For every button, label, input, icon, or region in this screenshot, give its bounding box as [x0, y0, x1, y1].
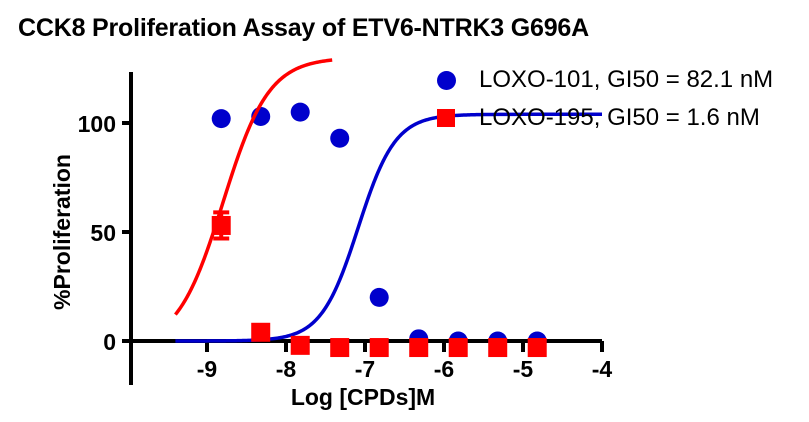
data-point-square: [488, 338, 507, 357]
chart-page: CCK8 Proliferation Assay of ETV6-NTRK3 G…: [0, 0, 809, 422]
data-point-square: [330, 338, 349, 357]
data-point-circle: [212, 109, 231, 128]
circle-marker-icon: [437, 71, 456, 90]
plot-area: 100 50 0 -9 -8 -7 -6 -5 -4 Log [CPDs]M %…: [0, 0, 809, 422]
x-tick-label-minus9: -9: [197, 356, 217, 382]
data-point-square: [449, 338, 468, 357]
legend-label: LOXO-101, GI50 = 82.1 nM: [479, 66, 773, 94]
data-point-square: [291, 336, 310, 355]
legend-label: LOXO-195, GI50 = 1.6 nM: [479, 104, 760, 132]
data-point-circle: [291, 103, 310, 122]
x-tick-label-minus6: -6: [434, 356, 454, 382]
data-point-square: [251, 323, 270, 342]
data-point-circle: [370, 288, 389, 307]
data-point-square: [370, 338, 389, 357]
x-tick-label-minus4: -4: [592, 356, 613, 382]
x-axis-title: Log [CPDs]M: [291, 384, 435, 410]
x-tick-label-minus5: -5: [513, 356, 534, 382]
y-axis-title: %Proliferation: [49, 154, 75, 310]
data-point-square: [528, 338, 547, 357]
data-point-circle: [330, 129, 349, 148]
fit-curve: [175, 60, 332, 315]
data-point-square: [409, 338, 428, 357]
series-loxo-101: [175, 103, 602, 351]
y-tick-label-50: 50: [90, 220, 116, 246]
y-tick-label-0: 0: [103, 329, 116, 355]
square-marker-icon: [437, 109, 455, 127]
x-tick-label-minus7: -7: [355, 356, 375, 382]
y-tick-label-100: 100: [78, 111, 116, 137]
x-tick-label-minus8: -8: [276, 356, 297, 382]
data-point-square: [212, 216, 231, 235]
